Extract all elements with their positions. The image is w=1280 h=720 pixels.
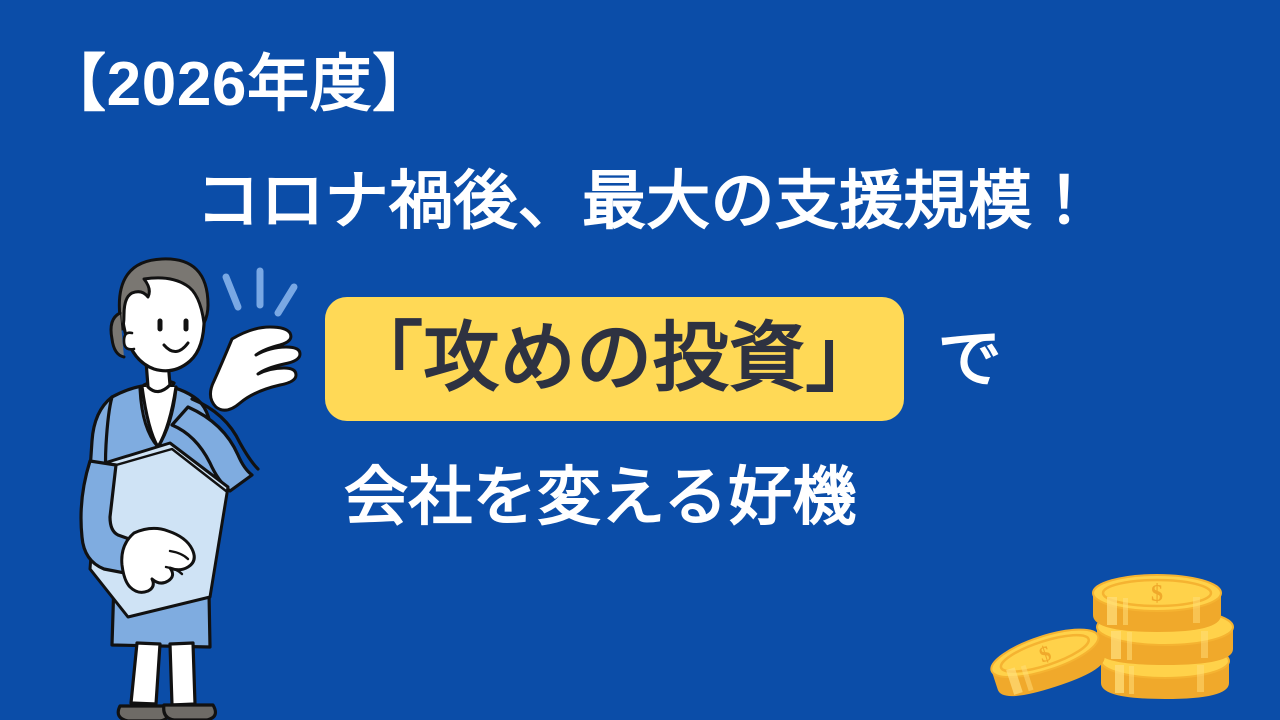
coin-stack-top: $ [1093,575,1221,632]
headline-tail-line: 会社を変える好機 [344,462,857,534]
coin-leaning: $ [986,620,1109,704]
headline-year-label: 【2026年度】 [44,52,435,117]
dollar-symbol-top: $ [1151,581,1163,607]
headline-main-row: 「攻めの投資」 で [325,297,1002,421]
trailing-particle: で [938,327,1002,391]
slide-canvas: $ $ 【2026年度】 コロナ禍後、最大の支援規模！ 「攻めの投資」 で 会社… [0,0,1280,720]
businesswoman-illustration [60,255,320,705]
highlight-chip: 「攻めの投資」 [325,297,904,421]
headline-subtitle: コロナ禍後、最大の支援規模！ [196,166,1096,238]
sparkle-icon [226,271,294,313]
gold-coins-illustration: $ $ [985,565,1255,720]
